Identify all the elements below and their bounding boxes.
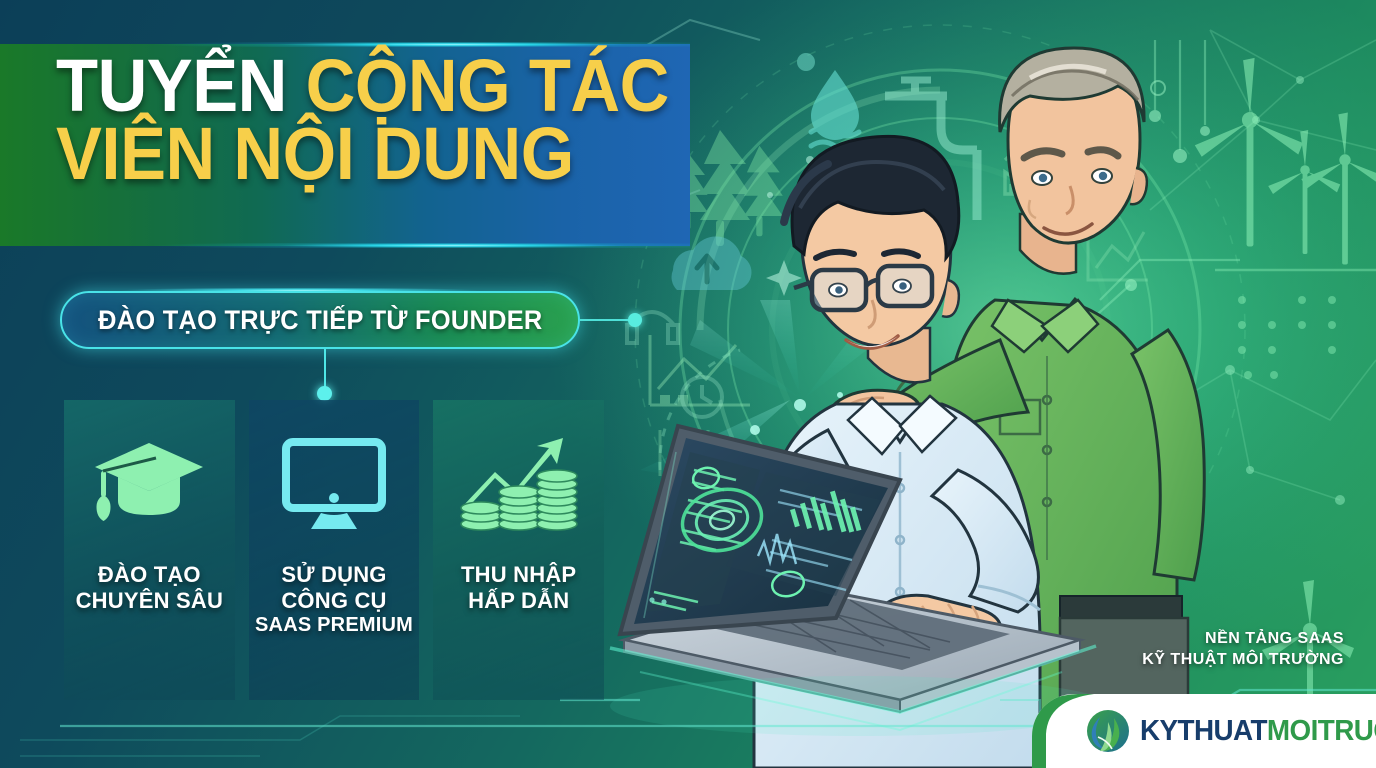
feature-line-2: HẤP DẪN	[461, 588, 576, 614]
feature-line-1: ĐÀO TẠO	[76, 562, 223, 588]
logo-wordmark: KYTHUATMOITRUONG.VN	[1140, 715, 1376, 748]
graduation-cap-icon	[90, 426, 208, 544]
founder-badge-label: ĐÀO TẠO TRỰC TIẾP TỪ FOUNDER	[98, 305, 542, 336]
feature-line-3: SAAS PREMIUM	[255, 614, 413, 638]
feature-card-training[interactable]: ĐÀO TẠO CHUYÊN SÂU	[64, 400, 235, 700]
headline-line-2: VIÊN NỘI DUNG	[56, 120, 633, 188]
tagline: NỀN TẢNG SAAS KỸ THUẬT MÔI TRƯỜNG	[1054, 628, 1344, 671]
feature-card-training-label: ĐÀO TẠO CHUYÊN SÂU	[76, 562, 223, 614]
feature-card-income-label: THU NHẬP HẤP DẪN	[461, 562, 576, 614]
promo-banner: TUYỂN CỘNG TÁC VIÊN NỘI DUNG ĐÀO TẠO TRỰ…	[0, 0, 1376, 768]
tagline-line-1: NỀN TẢNG SAAS	[1054, 628, 1344, 649]
connector-line-vertical	[324, 349, 326, 389]
feature-card-income[interactable]: THU NHẬP HẤP DẪN	[433, 400, 604, 700]
feature-card-list: ĐÀO TẠO CHUYÊN SÂU SỬ DỤNG CÔNG CỤ SAAS …	[64, 400, 604, 700]
page-title: TUYỂN CỘNG TÁC VIÊN NỘI DUNG	[56, 52, 676, 188]
feature-line-1: THU NHẬP	[461, 562, 576, 588]
feature-card-saas-tools[interactable]: SỬ DỤNG CÔNG CỤ SAAS PREMIUM	[249, 400, 420, 700]
founder-badge[interactable]: ĐÀO TẠO TRỰC TIẾP TỪ FOUNDER	[60, 291, 580, 349]
connector-node-right	[628, 313, 642, 327]
feature-line-1: SỬ DỤNG	[255, 562, 413, 588]
feature-line-2: CÔNG CỤ	[255, 588, 413, 614]
growth-coins-icon	[457, 426, 581, 544]
monitor-icon	[281, 426, 387, 544]
tagline-line-2: KỸ THUẬT MÔI TRƯỜNG	[1054, 649, 1344, 670]
band-glow-bottom	[0, 243, 690, 248]
logo-part-moitruong: MOITRUONG	[1267, 715, 1376, 747]
feature-card-saas-tools-label: SỬ DỤNG CÔNG CỤ SAAS PREMIUM	[255, 562, 413, 638]
feature-line-2: CHUYÊN SÂU	[76, 588, 223, 614]
logo-panel[interactable]: KYTHUATMOITRUONG.VN	[1032, 694, 1376, 768]
connector-line-horizontal	[580, 319, 634, 321]
logo-part-kythuat: KYTHUAT	[1140, 715, 1267, 747]
connector-node-bottom	[317, 386, 332, 401]
logo-panel-curve	[1032, 694, 1142, 768]
headline-line-1: TUYỂN CỘNG TÁC	[56, 52, 633, 120]
